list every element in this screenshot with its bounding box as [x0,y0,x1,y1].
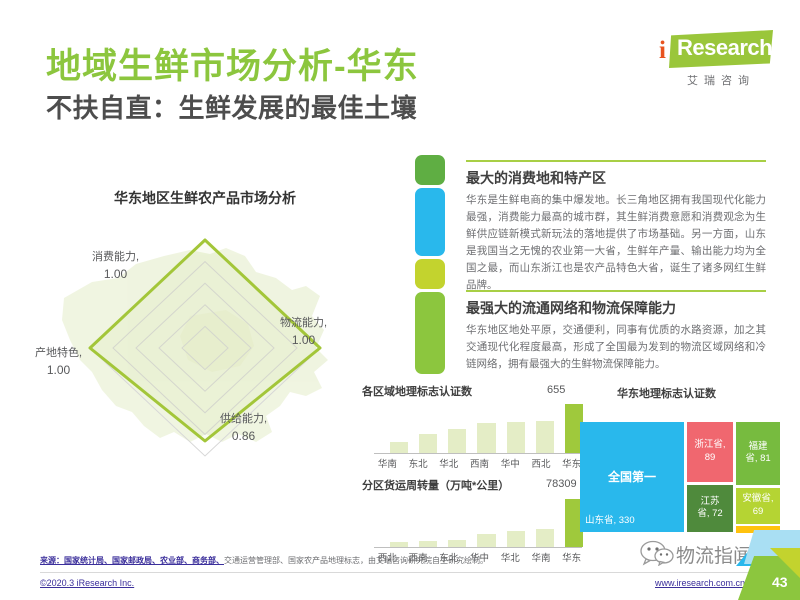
wechat-icon [640,540,674,566]
source-strong: 来源：国家统计局、国家邮政局、农业部、商务部、 [40,556,224,565]
bar-chart-axis-line [374,547,582,548]
logo-chinese-name: 艾瑞咨询 [669,72,773,88]
bar-category-label: 华北 [433,456,464,470]
copyright-text: ©2020.3 iResearch Inc. [40,578,134,588]
bar-西南 [477,423,495,453]
treemap-cell-label: 江苏 省, 72 [687,496,733,522]
radar-chart-panel: 华东地区生鲜农产品市场分析 [40,180,370,480]
bar-华南 [536,529,554,547]
source-line: 来源：国家统计局、国家邮政局、农业部、商务部、交通运营管理部、国家农产品地理标志… [40,556,488,566]
bar-chart-category-labels: 华南东北华北西南华中西北华东 [372,456,587,470]
page-number: 43 [772,574,788,590]
section-body: 华东是生鲜电商的集中爆发地。长三角地区拥有我国现代化能力最强，消费能力最高的城市… [466,192,766,294]
pill-yellow-green [415,259,445,289]
bar-chart-title: 分区货运周转量（万吨*公里） [362,477,509,493]
bar-chart-geo-certifications: 各区域地理标志认证数 655 华南东北华北西南华中西北华东 [362,383,597,463]
bar-东北 [419,434,437,453]
logo-i-letter: i [659,38,666,63]
bar-category-label: 华东 [556,550,587,564]
bar-chart-plot [384,401,589,453]
bar-category-label: 华北 [495,550,526,564]
bar-chart-max-label: 78309 [546,478,577,490]
bar-华北 [448,429,466,454]
bar-华北 [507,531,525,547]
bar-chart-axis-line [374,453,582,454]
radar-label-origin: 产地特色,1.00 [35,346,82,379]
bar-华中 [507,422,525,453]
slide-root: 地域生鲜市场分析-华东 不扶自直：生鲜发展的最佳土壤 i Research 艾瑞… [0,0,800,600]
treemap-cell-label: 安徽省, 69 [736,493,780,519]
section-heading: 最强大的流通网络和物流保障能力 [466,298,676,318]
page-subtitle: 不扶自直：生鲜发展的最佳土壤 [46,88,417,125]
treemap-chart: 全国第一 山东省, 330 浙江省, 89 福建 省, 81 江苏 省, 72 … [580,422,780,532]
footer-divider [40,572,760,573]
bar-华中 [477,534,495,547]
bar-category-label: 华南 [526,550,557,564]
bar-chart-title: 各区域地理标志认证数 [362,383,472,399]
bar-category-label: 华南 [372,456,403,470]
bar-华南 [390,442,408,453]
treemap-cell-fujian: 福建 省, 81 [736,422,780,485]
treemap-title: 华东地理标志认证数 [617,385,716,401]
treemap-cell-label: 山东省, 330 [585,515,635,528]
bar-category-label: 西北 [526,456,557,470]
section-heading: 最大的消费地和特产区 [466,168,606,188]
bar-chart-plot [384,495,589,547]
treemap-cell-jiangsu: 江苏 省, 72 [687,485,733,532]
radar-label-logistics: 物流能力,1.00 [280,316,327,349]
bar-chart-max-label: 655 [547,384,565,396]
section-rule [466,160,766,162]
radar-chart-title: 华东地区生鲜农产品市场分析 [40,188,370,208]
treemap-highlight-note: 全国第一 [580,469,684,485]
pill-dark-green [415,155,445,185]
radar-label-supply: 供给能力,0.86 [220,412,267,445]
pill-light-green [415,292,445,374]
bar-category-label: 东北 [403,456,434,470]
treemap-cell-zhejiang: 浙江省, 89 [687,422,733,482]
iresearch-logo: i Research 艾瑞咨询 [655,30,775,92]
pill-cyan [415,188,445,256]
treemap-cell-anhui: 安徽省, 69 [736,488,780,524]
radar-label-consumption: 消费能力,1.00 [92,250,139,283]
logo-wordmark: Research [677,37,772,59]
bar-东北 [448,540,466,547]
treemap-cell-label: 福建 省, 81 [736,441,780,467]
bar-西北 [536,421,554,453]
source-rest: 交通运营管理部、国家农产品地理标志，由艾瑞咨询研究院自主研究绘制。 [224,556,488,565]
bar-chart-freight-turnover: 分区货运周转量（万吨*公里） 78309 西北西南东北华中华北华南华东 [362,477,597,557]
section-rule [466,290,766,292]
section-body: 华东地区地处平原，交通便利，同事有优质的水路资源，加之其交通现代化程度最高，形成… [466,322,766,373]
treemap-cell-label: 浙江省, 89 [687,439,733,465]
bar-category-label: 华中 [495,456,526,470]
bar-category-label: 西南 [464,456,495,470]
treemap-cell-shandong: 全国第一 山东省, 330 [580,422,684,532]
page-title: 地域生鲜市场分析-华东 [46,38,419,89]
